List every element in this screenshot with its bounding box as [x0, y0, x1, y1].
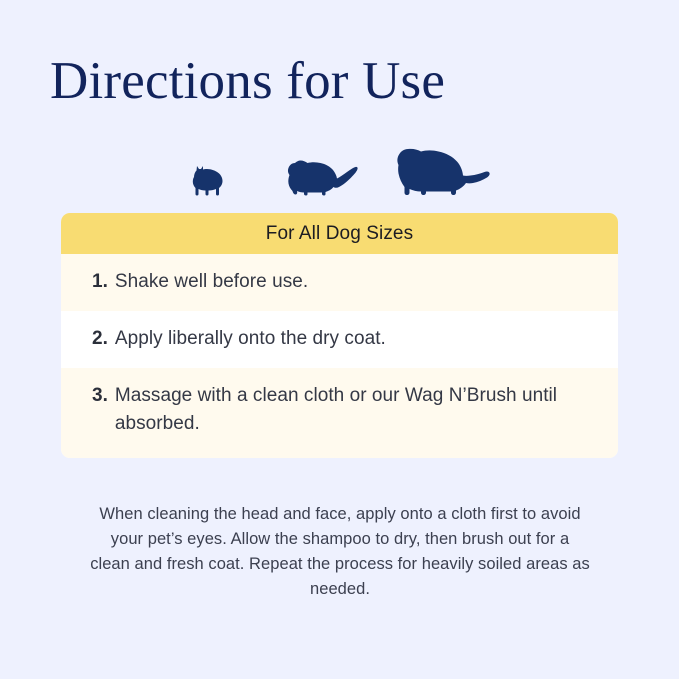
step-text: Massage with a clean cloth or our Wag N’… — [115, 382, 592, 438]
list-item: 2. Apply liberally onto the dry coat. — [61, 311, 618, 368]
steps-list: 1. Shake well before use. 2. Apply liber… — [61, 254, 618, 458]
step-text: Shake well before use. — [115, 268, 308, 296]
step-number: 3. — [92, 382, 108, 410]
step-number: 2. — [92, 325, 108, 353]
list-item: 1. Shake well before use. — [61, 254, 618, 311]
list-item: 3. Massage with a clean cloth or our Wag… — [61, 368, 618, 458]
dog-size-illustrations — [0, 138, 679, 196]
step-text: Apply liberally onto the dry coat. — [115, 325, 386, 353]
footer-note: When cleaning the head and face, apply o… — [90, 502, 590, 602]
instructions-card: For All Dog Sizes 1. Shake well before u… — [61, 213, 618, 458]
card-header-label: For All Dog Sizes — [266, 223, 413, 245]
card-header: For All Dog Sizes — [61, 213, 618, 254]
directions-for-use-panel: Directions for Use For All Dog Sizes 1. — [0, 0, 679, 679]
step-number: 1. — [92, 268, 108, 296]
medium-dog-silhouette — [287, 155, 358, 196]
large-dog-silhouette — [397, 143, 490, 196]
small-dog-silhouette — [192, 166, 233, 196]
page-title: Directions for Use — [50, 50, 445, 112]
